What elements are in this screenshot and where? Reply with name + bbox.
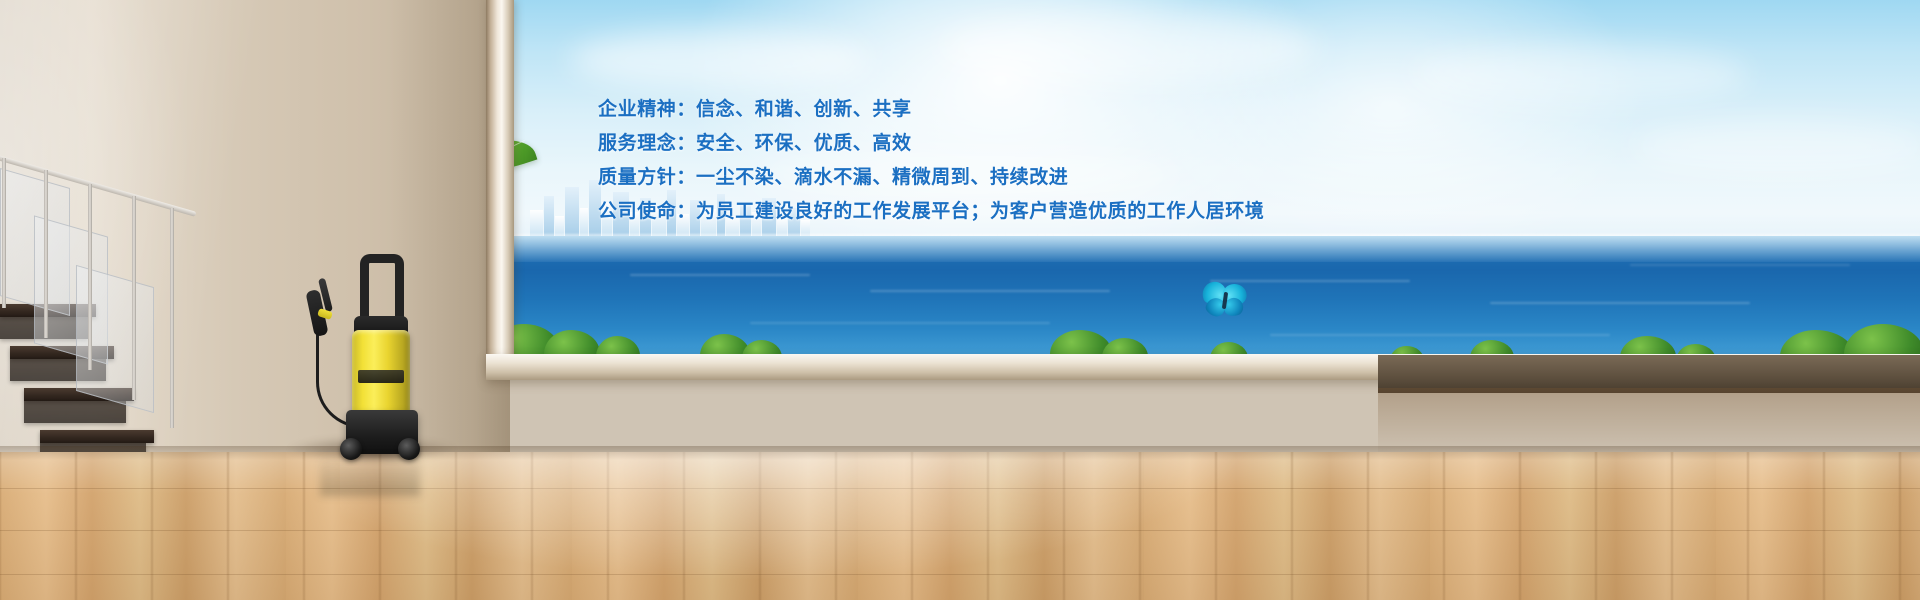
butterfly-icon [1202,282,1248,318]
company-philosophy-text: 企业精神：信念、和谐、创新、共享 服务理念：安全、环保、优质、高效 质量方针：一… [598,92,1498,228]
slogan-line-quality-policy: 质量方针：一尘不染、滴水不漏、精微周到、持续改进 [598,160,1498,194]
slogan-line-service-concept: 服务理念：安全、环保、优质、高效 [598,126,1498,160]
promotional-banner: 企业精神：信念、和谐、创新、共享 服务理念：安全、环保、优质、高效 质量方针：一… [0,0,1920,600]
pressure-washer [306,252,432,460]
slogan-line-corporate-spirit: 企业精神：信念、和谐、创新、共享 [598,92,1498,126]
washer-label [358,370,404,383]
slogan-line-company-mission: 公司使命：为员工建设良好的工作发展平台；为客户营造优质的工作人居环境 [598,194,1498,228]
floor-reflection [340,452,1320,600]
washer-floor-reflection [320,452,420,496]
staircase-left [0,118,176,458]
mural-frame-left [486,0,514,372]
washer-handle [360,254,404,322]
